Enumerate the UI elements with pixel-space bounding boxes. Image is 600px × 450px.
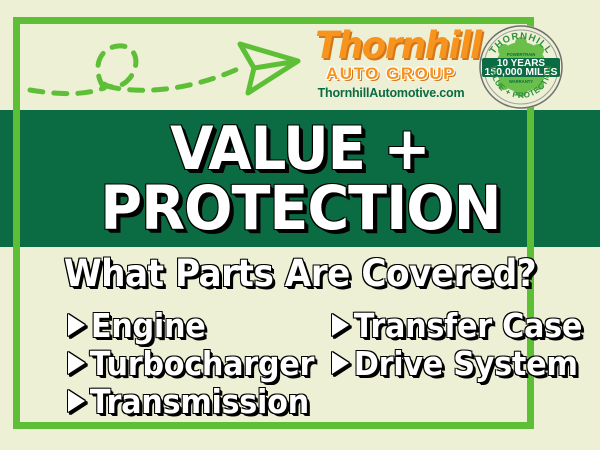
frame-border-left-overlay	[13, 110, 20, 247]
thornhill-logo: Thornhill AUTO GROUP ThornhillAutomotive…	[312, 27, 470, 100]
warranty-seal-icon: 10 YEARS 150,000 MILES POWERTRAIN WARRAN…	[478, 24, 564, 110]
seal-warranty-text: WARRANTY	[509, 79, 533, 84]
list-item: Engine	[68, 306, 318, 344]
list-item-label: Transmission	[90, 385, 309, 418]
triangle-bullet-icon	[68, 352, 85, 374]
covered-parts-column-left: Engine Turbocharger Transmission	[68, 306, 318, 420]
frame-border-bottom	[13, 422, 534, 429]
list-item-label: Turbocharger	[90, 347, 314, 380]
triangle-bullet-icon	[332, 314, 349, 336]
list-item: Transmission	[68, 382, 318, 420]
logo-wordmark: Thornhill	[315, 27, 467, 64]
promotional-banner: Thornhill AUTO GROUP ThornhillAutomotive…	[0, 0, 600, 450]
list-item-label: Engine	[91, 309, 206, 342]
subheading-text: What Parts Are Covered?	[0, 252, 600, 295]
triangle-bullet-icon	[332, 352, 349, 374]
logo-website-url: ThornhillAutomotive.com	[312, 86, 470, 100]
list-item: Drive System	[332, 344, 572, 382]
frame-border-top	[13, 17, 534, 24]
triangle-bullet-icon	[68, 390, 85, 412]
frame-border-right-overlay	[527, 110, 534, 247]
list-item: Turbocharger	[68, 344, 318, 382]
logo-subname: AUTO GROUP	[312, 65, 470, 84]
paper-plane-arrow-icon	[240, 44, 298, 93]
covered-parts-column-right: Transfer Case Drive System	[332, 306, 572, 382]
seal-powertrain-text: POWERTRAIN	[507, 52, 536, 57]
headline-banner	[0, 110, 600, 247]
triangle-bullet-icon	[68, 314, 85, 336]
list-item-label: Drive System	[354, 347, 578, 380]
list-item: Transfer Case	[332, 306, 572, 344]
covered-parts-list: Engine Turbocharger Transmission Transfe…	[24, 306, 576, 420]
list-item-label: Transfer Case	[354, 309, 582, 342]
dashed-loop-arrow-icon	[26, 26, 306, 110]
